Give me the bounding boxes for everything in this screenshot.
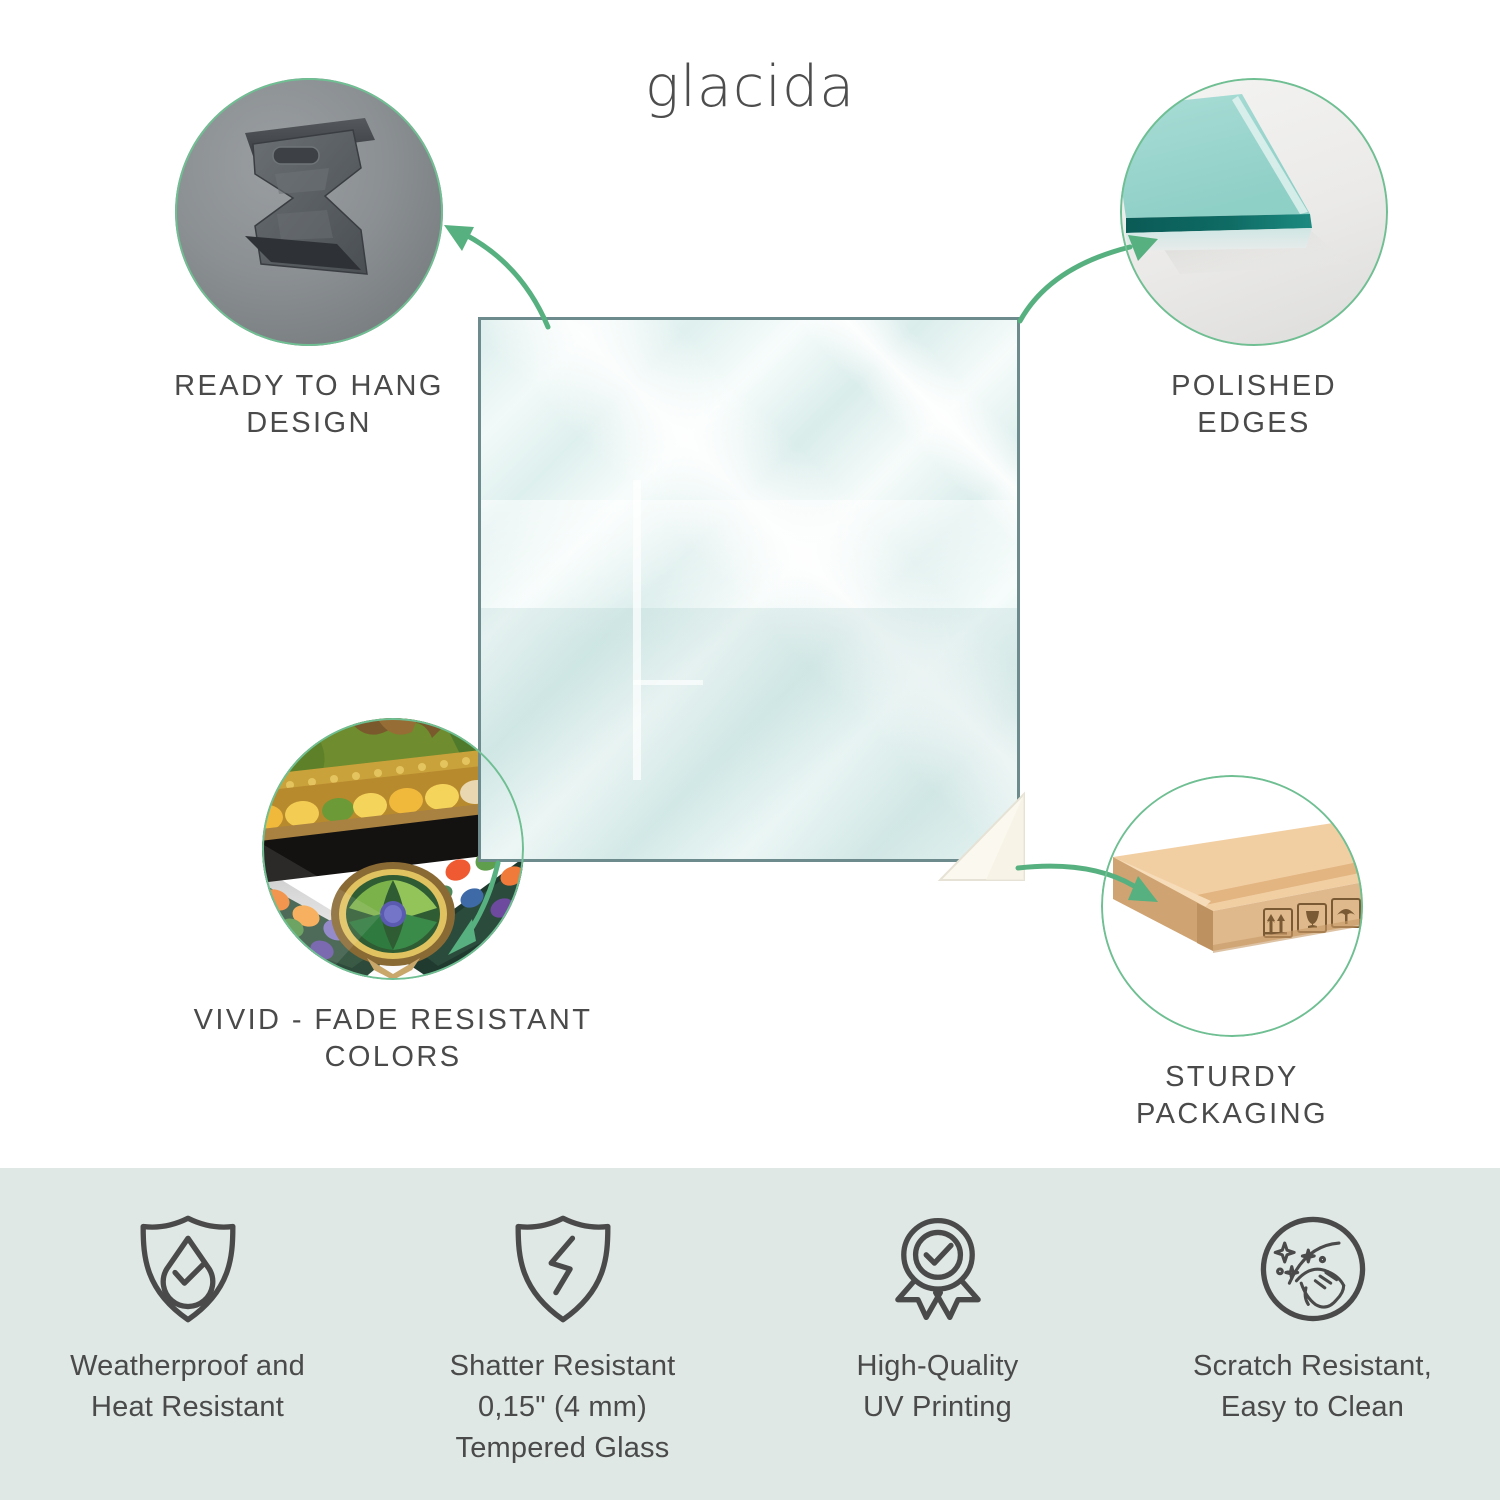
bottom-item-uv-printing: High-Quality UV Printing — [750, 1168, 1125, 1500]
feature-label-sturdy-packaging: STURDY PACKAGING — [1052, 1059, 1412, 1133]
glass-reflection — [633, 680, 703, 685]
glass-reflection — [478, 500, 1020, 640]
bottom-item-label: Weatherproof and Heat Resistant — [70, 1346, 305, 1428]
feature-ready-to-hang: READY TO HANG DESIGN — [134, 78, 484, 442]
glass-reflection — [671, 317, 1020, 862]
bottom-feature-bar: Weatherproof and Heat Resistant Shatter … — [0, 1168, 1500, 1500]
feature-image-ready-to-hang — [175, 78, 443, 346]
feature-polished-edges: POLISHED EDGES — [1104, 78, 1404, 442]
bottom-item-label: Scratch Resistant, Easy to Clean — [1193, 1346, 1432, 1428]
hanging-bracket-icon — [175, 78, 443, 346]
protective-film-corner — [936, 790, 1032, 886]
feature-image-polished-edges — [1120, 78, 1388, 346]
bottom-item-weatherproof: Weatherproof and Heat Resistant — [0, 1168, 375, 1500]
bottom-item-scratch-resistant: Scratch Resistant, Easy to Clean — [1125, 1168, 1500, 1500]
bottom-item-shatter-resistant: Shatter Resistant 0,15" (4 mm) Tempered … — [375, 1168, 750, 1500]
bottom-item-label: Shatter Resistant 0,15" (4 mm) Tempered … — [450, 1346, 676, 1470]
glass-reflection — [901, 317, 1020, 843]
feature-image-sturdy-packaging — [1101, 775, 1363, 1037]
feature-label-polished-edges: POLISHED EDGES — [1104, 368, 1404, 442]
infographic-canvas: glacida — [0, 0, 1500, 1500]
glass-reflection — [633, 480, 641, 780]
shield-lightning-icon — [504, 1210, 622, 1328]
shield-droplet-check-icon — [129, 1210, 247, 1328]
feature-label-vivid-colors: VIVID - FADE RESISTANT COLORS — [137, 1002, 649, 1076]
cardboard-box-icon — [1101, 775, 1363, 1037]
bottom-item-label: High-Quality UV Printing — [857, 1346, 1019, 1428]
feature-label-ready-to-hang: READY TO HANG DESIGN — [134, 368, 484, 442]
glass-reflection — [478, 317, 1020, 862]
sparkle-wiping-hand-icon — [1254, 1210, 1372, 1328]
award-ribbon-check-icon — [879, 1210, 997, 1328]
glass-corner-icon — [1120, 78, 1388, 346]
tempered-glass-panel — [478, 317, 1020, 862]
feature-sturdy-packaging: STURDY PACKAGING — [1052, 775, 1412, 1133]
